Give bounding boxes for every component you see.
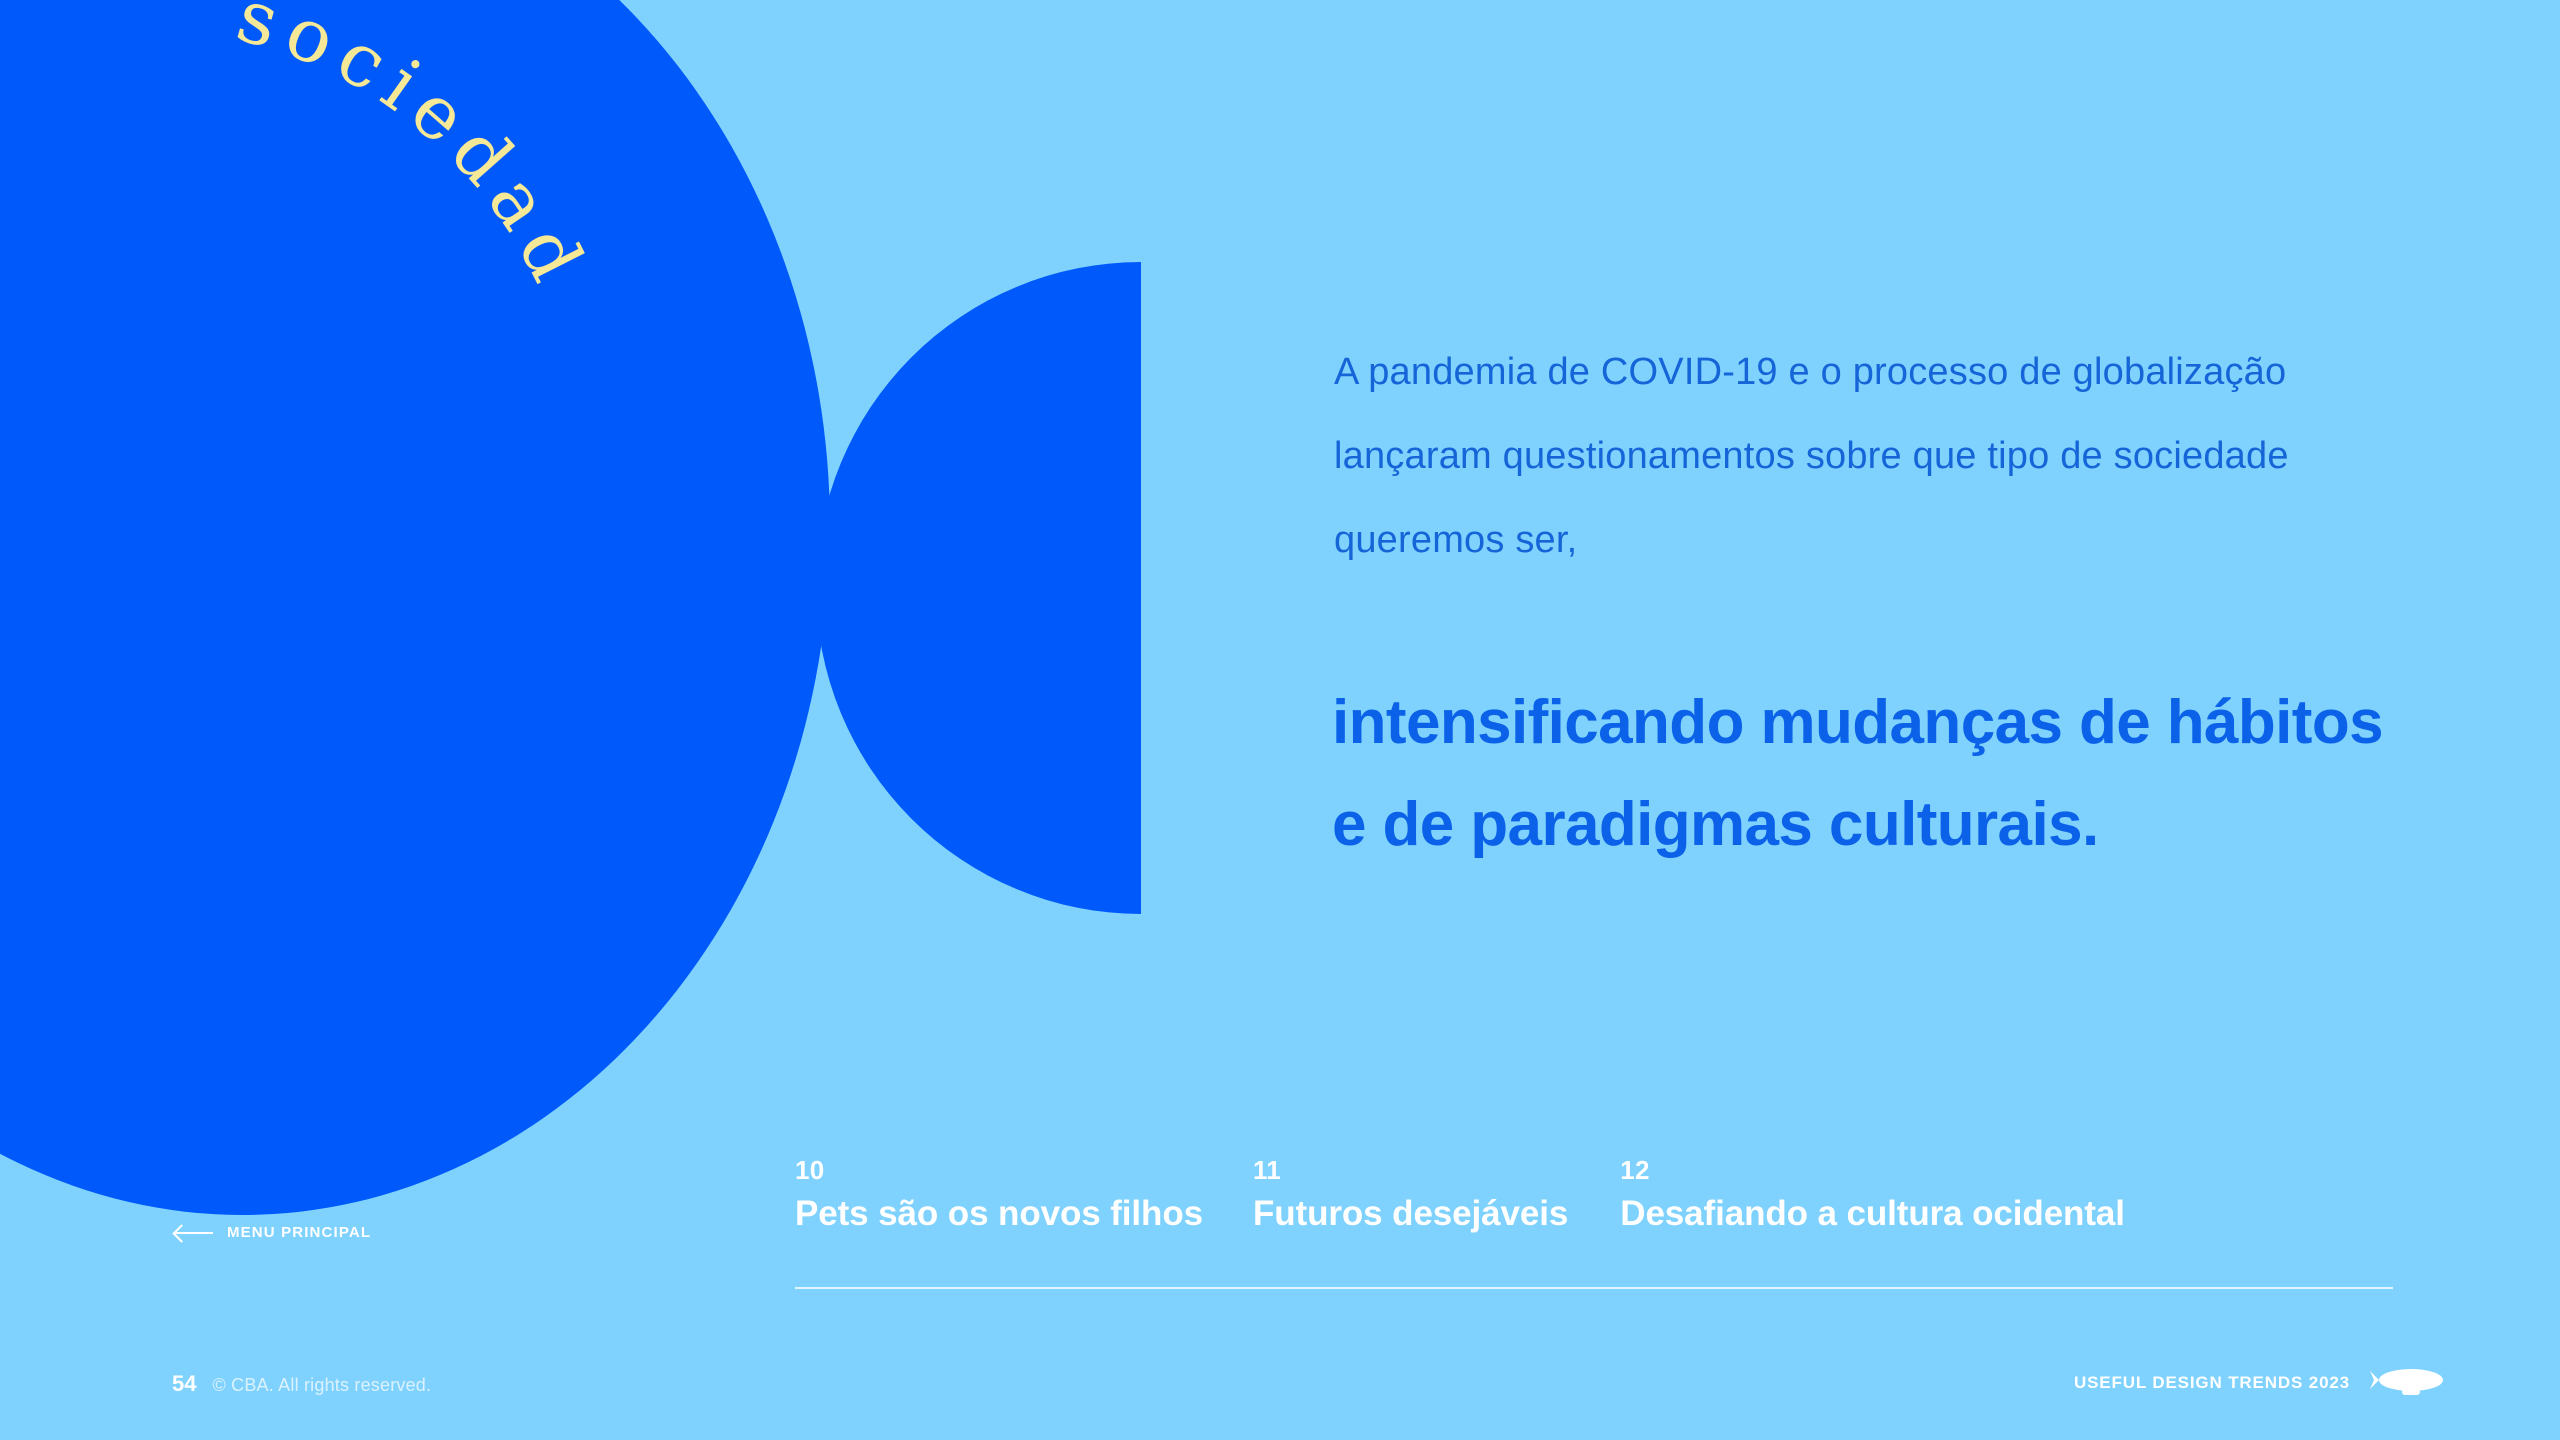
half-circle-shape [816,262,1141,914]
arrow-left-icon [175,1225,213,1241]
headline: intensificando mudanças de hábitos e de … [1332,672,2412,876]
index-item-number: 11 [1253,1157,1568,1183]
menu-principal-label: MENU PRINCIPAL [227,1224,371,1241]
body-copy: A pandemia de COVID-19 e o processo de g… [1334,330,2354,582]
index-divider [795,1287,2393,1289]
index-item-10[interactable]: 10 Pets são os novos filhos [795,1157,1203,1233]
index-item-11[interactable]: 11 Futuros desejáveis [1253,1157,1568,1233]
index-item-number: 12 [1620,1157,2125,1183]
brand-label: USEFUL DESIGN TRENDS 2023 [2074,1373,2350,1393]
index-item-title: Pets são os novos filhos [795,1196,1203,1233]
index-item-title: Futuros desejáveis [1253,1196,1568,1233]
large-circle-shape [0,0,830,1215]
index-item-12[interactable]: 12 Desafiando a cultura ocidental [1620,1157,2125,1233]
index-item-number: 10 [795,1157,1203,1183]
index-item-title: Desafiando a cultura ocidental [1620,1196,2125,1233]
page-number: 54 [172,1371,196,1397]
footer-right: USEFUL DESIGN TRENDS 2023 [2074,1366,2448,1400]
slide: sociedade A pandemia de COVID-19 e o pro… [0,0,2560,1440]
copyright-text: © CBA. All rights reserved. [212,1375,431,1396]
footer-left: 54 © CBA. All rights reserved. [172,1371,431,1397]
menu-principal-link[interactable]: MENU PRINCIPAL [175,1224,371,1241]
blimp-icon [2370,1366,2448,1400]
index-row: 10 Pets são os novos filhos 11 Futuros d… [795,1157,2125,1233]
